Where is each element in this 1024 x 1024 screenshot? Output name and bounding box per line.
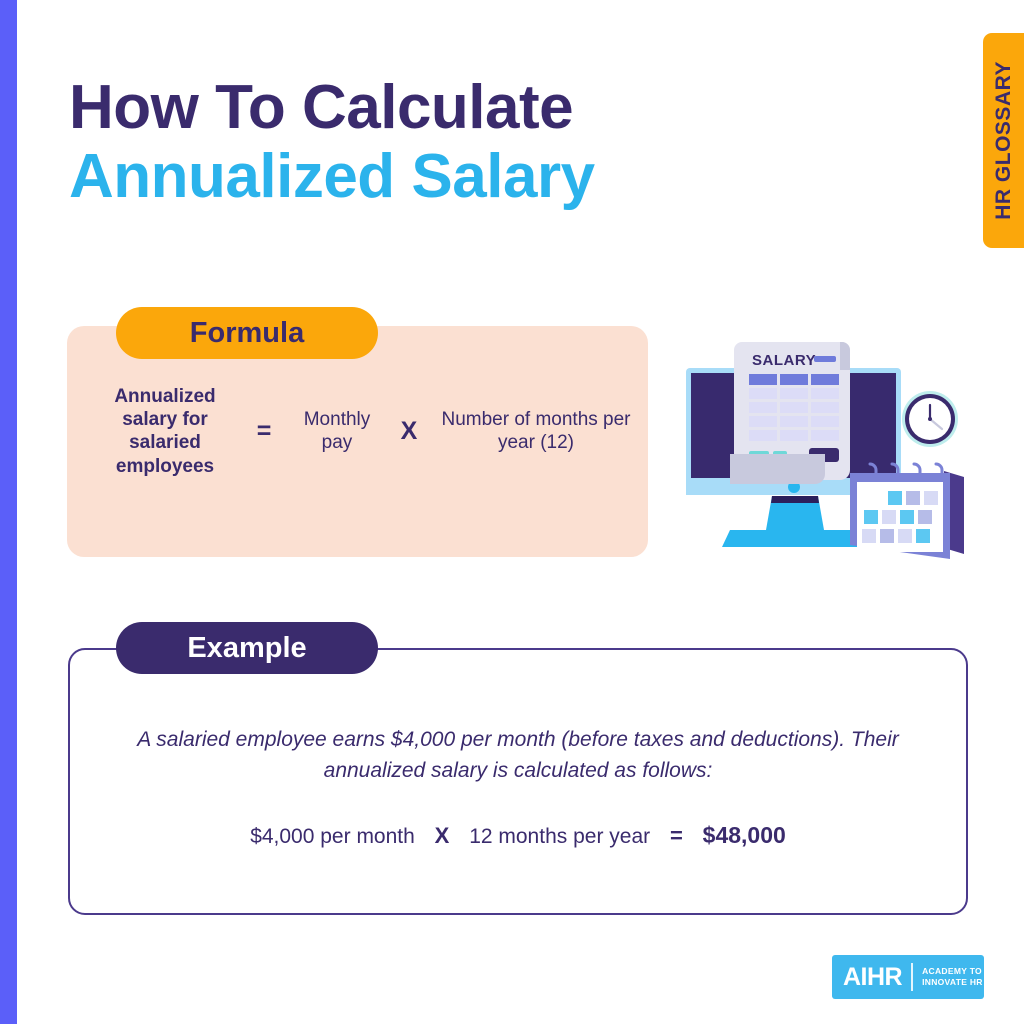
example-calc-equals-operator: =	[656, 823, 697, 848]
example-calc-result: $48,000	[703, 822, 786, 848]
logo-tagline-line-2: INNOVATE HR	[922, 977, 983, 987]
formula-left-term: Annualized salary for salaried employees	[89, 385, 241, 478]
formula-equals-operator: =	[241, 416, 287, 447]
page-title-line-1: How To Calculate	[69, 73, 729, 142]
example-calc-operand-2: 12 months per year	[469, 825, 650, 848]
page-title: How To Calculate Annualized Salary	[69, 73, 729, 212]
aihr-logo-mark: AIHR	[843, 963, 902, 992]
example-label-pill: Example	[116, 622, 378, 674]
formula-months-term: Number of months per year (12)	[431, 408, 641, 454]
example-description: A salaried employee earns $4,000 per mon…	[90, 724, 946, 786]
aihr-logo-tagline: ACADEMY TO INNOVATE HR	[922, 966, 983, 988]
example-calculation: $4,000 per month X 12 months per year = …	[90, 822, 946, 849]
formula-times-operator: X	[387, 416, 431, 447]
left-accent-stripe	[0, 0, 17, 1024]
salary-illustration: SALARY	[672, 330, 982, 570]
example-calc-operand-1: $4,000 per month	[250, 825, 415, 848]
logo-tagline-line-1: ACADEMY TO	[922, 966, 982, 976]
page-title-line-2: Annualized Salary	[69, 142, 729, 211]
formula-equation: Annualized salary for salaried employees…	[67, 385, 648, 478]
calendar-icon	[850, 464, 964, 559]
infographic-page: HR GLOSSARY How To Calculate Annualized …	[0, 0, 1024, 1024]
formula-monthly-pay-term: Monthly pay	[287, 408, 387, 454]
salary-document-icon: SALARY	[730, 342, 850, 484]
hr-glossary-badge: HR GLOSSARY	[983, 33, 1024, 248]
svg-text:SALARY: SALARY	[752, 352, 816, 369]
example-description-line-1: A salaried employee earns $4,000 per mon…	[137, 728, 845, 751]
formula-label-text: Formula	[190, 317, 304, 350]
formula-label-pill: Formula	[116, 307, 378, 359]
aihr-logo: AIHR ACADEMY TO INNOVATE HR	[832, 955, 984, 999]
example-calc-times-operator: X	[421, 823, 464, 848]
logo-divider	[911, 963, 913, 991]
clock-icon	[902, 391, 958, 447]
example-label-text: Example	[187, 632, 306, 665]
hr-glossary-badge-label: HR GLOSSARY	[992, 61, 1016, 220]
